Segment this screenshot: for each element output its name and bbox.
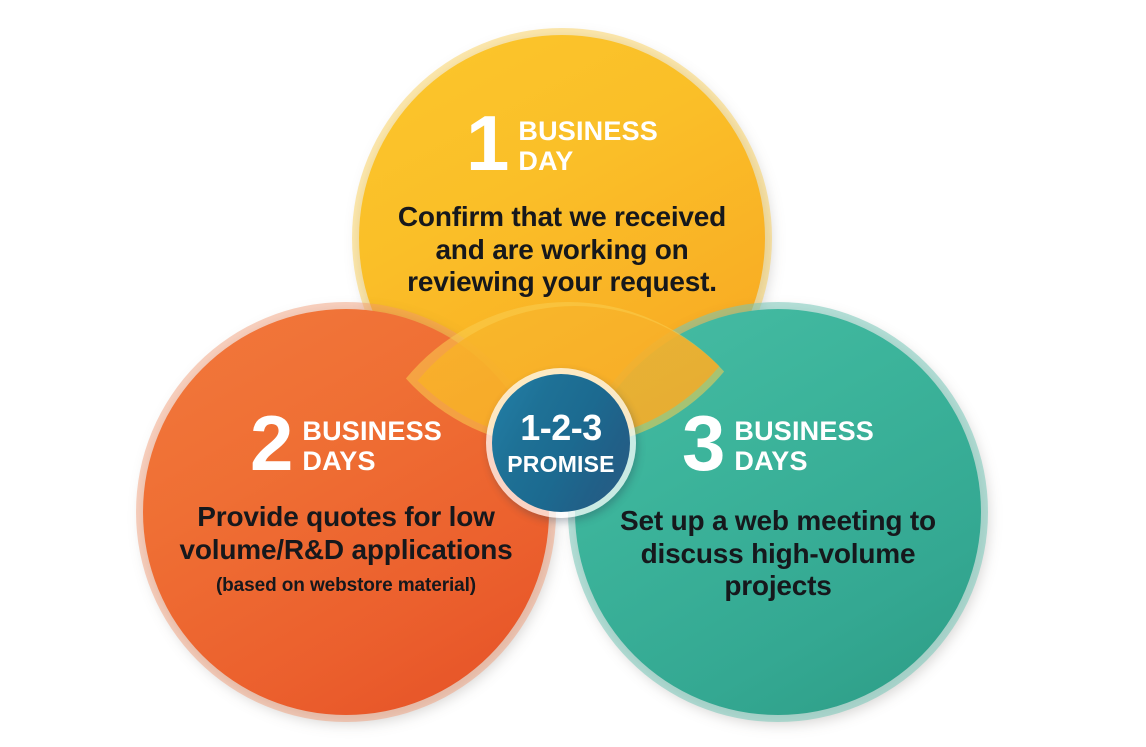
day-unit-line-1: BUSINESS xyxy=(302,416,442,446)
promise-number-label: 1-2-3 xyxy=(520,410,602,446)
circle-description: Set up a web meeting to discuss high-vol… xyxy=(588,505,968,602)
venn-diagram-canvas: 1 BUSINESS DAY Confirm that we received … xyxy=(0,0,1146,747)
day-count-number: 3 xyxy=(682,410,723,477)
heading-row: 3 BUSINESS DAYS xyxy=(588,410,968,477)
day-count-number: 1 xyxy=(466,110,507,177)
circle-subnote: (based on webstore material) xyxy=(156,575,536,598)
venn-center-hub[interactable]: 1-2-3 PROMISE xyxy=(486,368,636,518)
heading-row: 2 BUSINESS DAYS xyxy=(156,410,536,477)
day-unit-line-2: DAYS xyxy=(302,446,442,476)
day-unit-line-1: BUSINESS xyxy=(734,416,874,446)
day-count-number: 2 xyxy=(250,410,291,477)
heading-row: 1 BUSINESS DAY xyxy=(372,110,752,177)
circle-content-three-business-days: 3 BUSINESS DAYS Set up a web meeting to … xyxy=(588,410,968,602)
day-unit-label: BUSINESS DAYS xyxy=(734,410,874,476)
promise-word-label: PROMISE xyxy=(507,453,614,476)
day-unit-line-2: DAY xyxy=(518,146,658,176)
day-unit-label: BUSINESS DAYS xyxy=(302,410,442,476)
center-hub-fill: 1-2-3 PROMISE xyxy=(492,374,630,512)
day-unit-line-2: DAYS xyxy=(734,446,874,476)
day-unit-label: BUSINESS DAY xyxy=(518,110,658,176)
circle-content-one-business-day: 1 BUSINESS DAY Confirm that we received … xyxy=(372,110,752,298)
circle-description: Provide quotes for low volume/R&D applic… xyxy=(156,501,536,566)
day-unit-line-1: BUSINESS xyxy=(518,116,658,146)
circle-content-two-business-days: 2 BUSINESS DAYS Provide quotes for low v… xyxy=(156,410,536,598)
circle-description: Confirm that we received and are working… xyxy=(372,201,752,298)
